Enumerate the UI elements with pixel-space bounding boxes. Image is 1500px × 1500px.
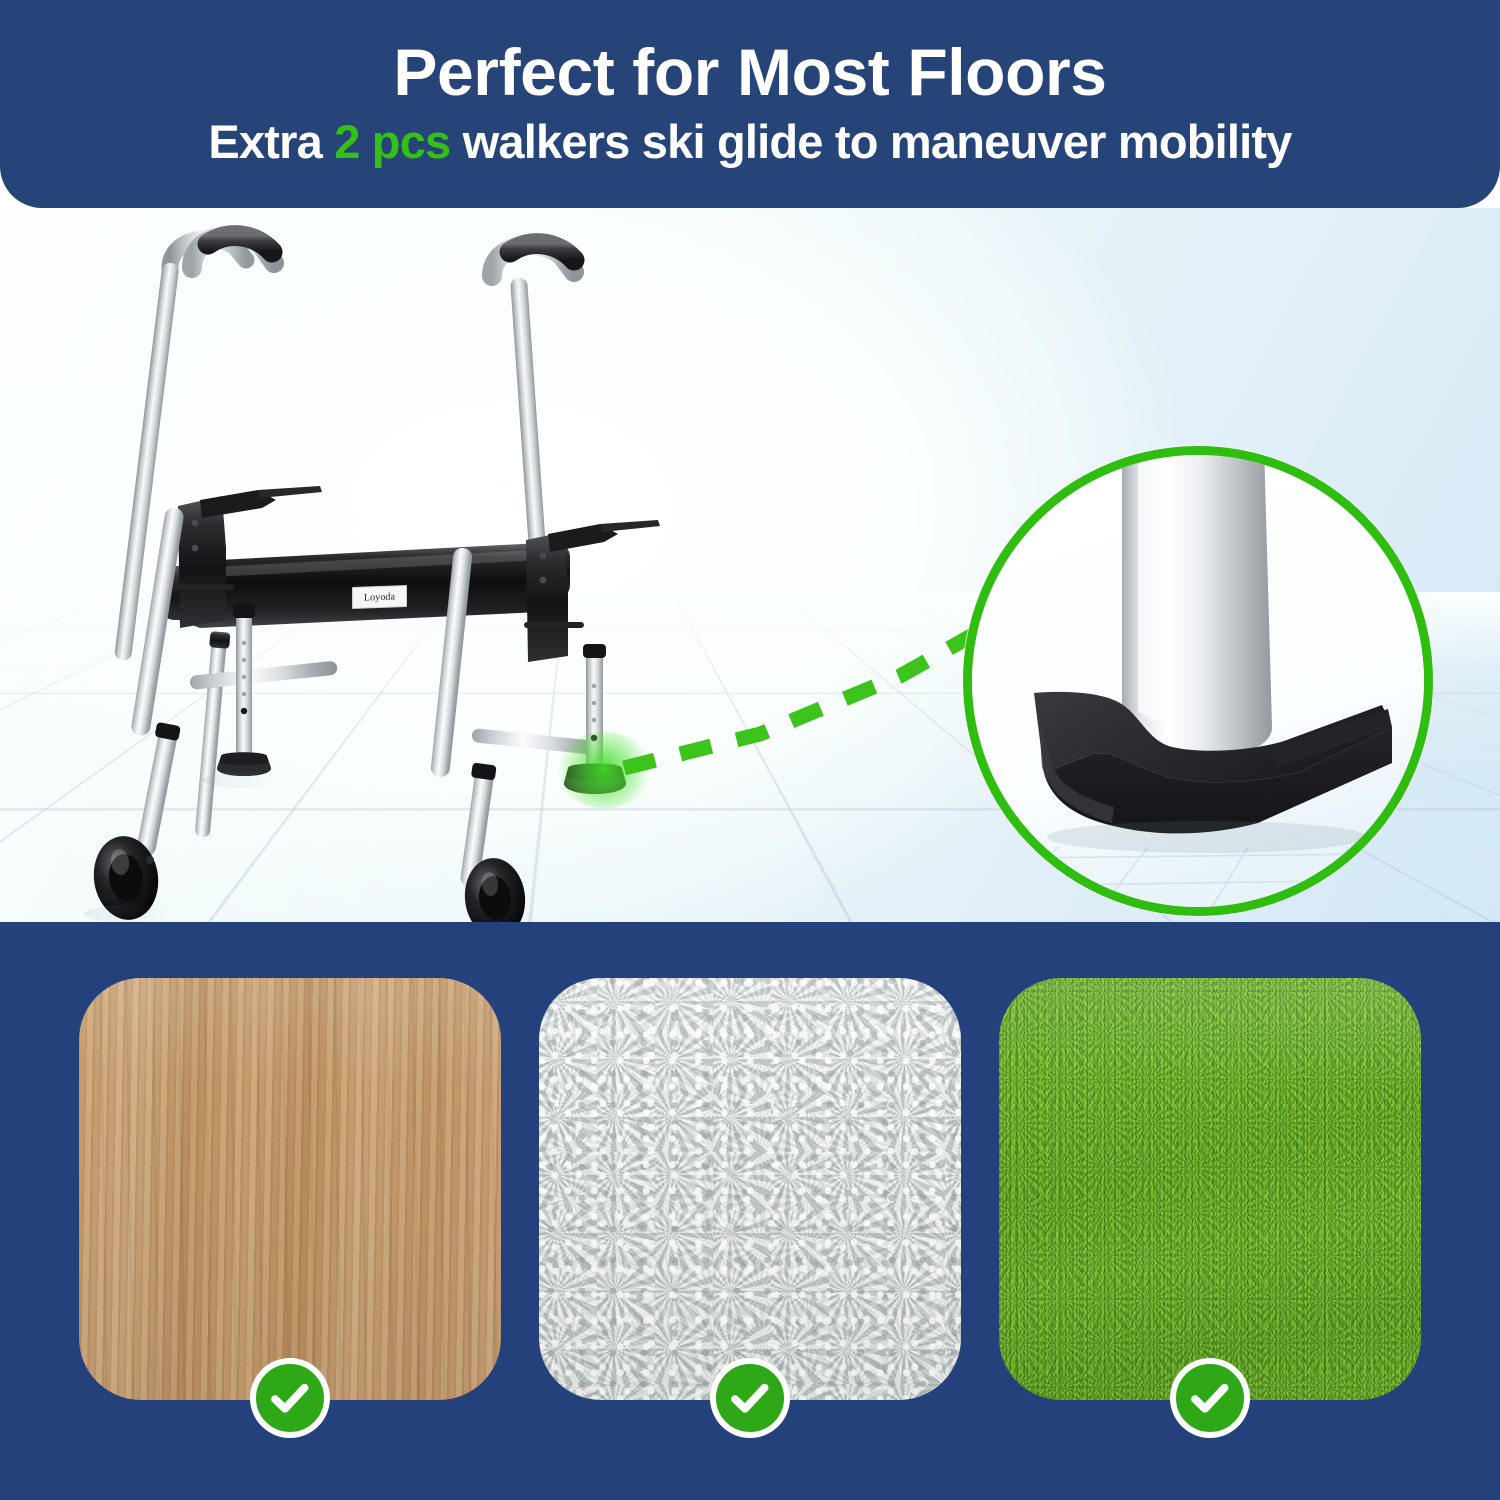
grass-texture bbox=[999, 978, 1421, 1400]
header-banner: Perfect for Most Floors Extra 2 pcs walk… bbox=[0, 0, 1500, 208]
check-icon bbox=[267, 1375, 313, 1421]
floor-swatch-hardwood[interactable] bbox=[79, 978, 501, 1446]
subheadline-prefix: Extra bbox=[208, 115, 334, 168]
check-icon bbox=[727, 1375, 773, 1421]
product-infographic: Loyoda bbox=[0, 0, 1500, 1500]
walker-product-image bbox=[40, 208, 660, 908]
approved-check-badge bbox=[710, 1358, 790, 1438]
subheadline-text: Extra 2 pcs walkers ski glide to maneuve… bbox=[208, 117, 1291, 166]
subheadline-highlight: 2 pcs bbox=[334, 115, 450, 168]
swatch-sheen bbox=[999, 978, 1421, 1400]
floor-swatch-row bbox=[0, 922, 1500, 1500]
swatch-sheen bbox=[79, 978, 501, 1400]
subheadline-suffix: walkers ski glide to maneuver mobility bbox=[450, 115, 1291, 168]
product-scene: Loyoda bbox=[0, 208, 1500, 922]
headline-text: Perfect for Most Floors bbox=[393, 38, 1106, 107]
approved-check-badge bbox=[1170, 1358, 1250, 1438]
floor-compatibility-section bbox=[0, 922, 1500, 1500]
floor-swatch-grass[interactable] bbox=[999, 978, 1421, 1446]
check-icon bbox=[1187, 1375, 1233, 1421]
ski-glide-closeup-callout bbox=[963, 446, 1433, 916]
carpet-texture bbox=[539, 978, 961, 1400]
approved-check-badge bbox=[250, 1358, 330, 1438]
floor-swatch-carpet[interactable] bbox=[539, 978, 961, 1446]
brand-label: Loyoda bbox=[352, 585, 407, 609]
hardwood-texture bbox=[79, 978, 501, 1400]
swatch-sheen bbox=[539, 978, 961, 1400]
